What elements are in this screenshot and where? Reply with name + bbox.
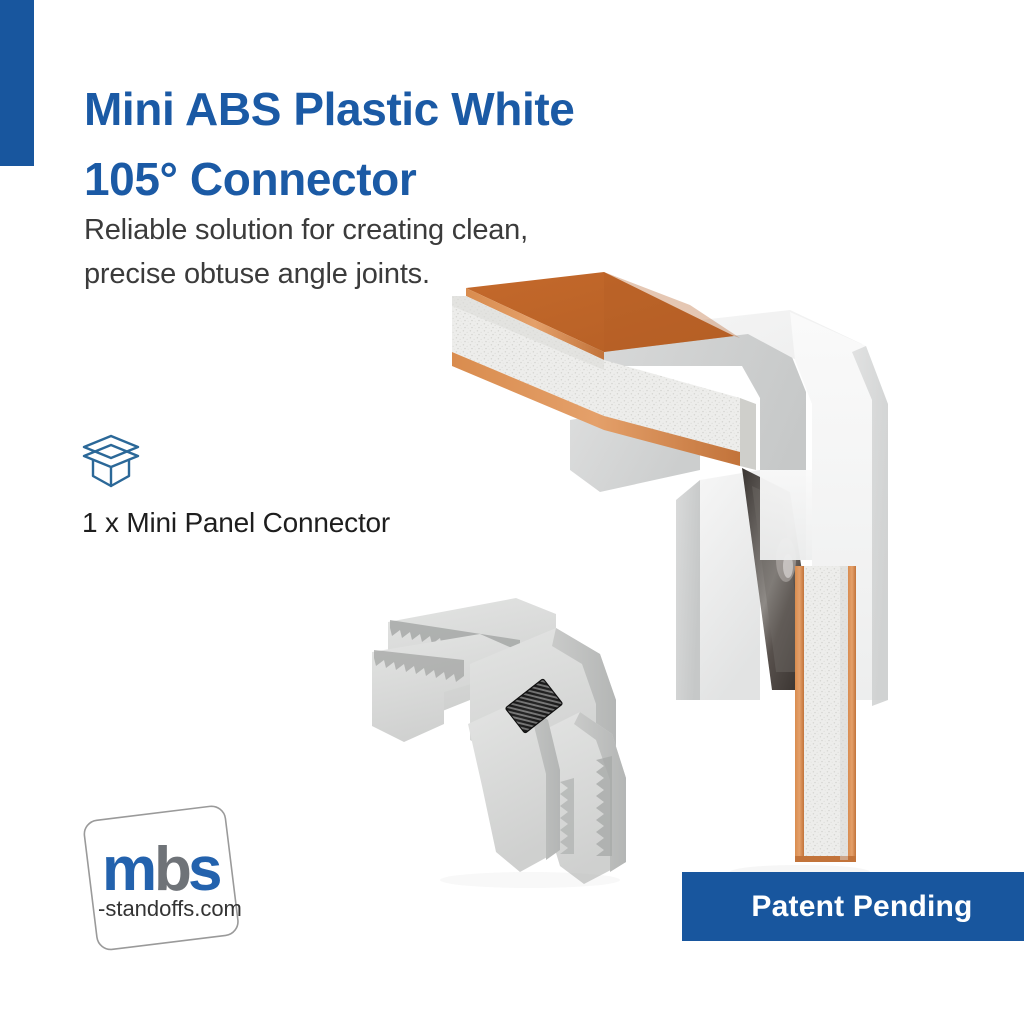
patent-pending-label: Patent Pending <box>700 872 1024 941</box>
page-title: Mini ABS Plastic White 105° Connector <box>84 74 744 214</box>
page-subtitle-line-1: Reliable solution for creating clean, <box>84 208 604 252</box>
brand-logo[interactable]: m b s -standoffs.com <box>78 798 258 958</box>
product-marketing-card: Mini ABS Plastic White 105° Connector Re… <box>0 0 1024 1024</box>
connector-bracket-render <box>372 598 626 888</box>
package-contents-label: 1 x Mini Panel Connector <box>82 505 542 541</box>
left-accent-bar <box>0 0 34 166</box>
angled-panel-joint-render <box>452 272 888 879</box>
open-box-icon <box>82 434 140 488</box>
svg-text:s: s <box>188 835 220 904</box>
page-subtitle-line-2: precise obtuse angle joints. <box>84 252 604 296</box>
logo-wordmark: m b s <box>102 835 220 904</box>
svg-text:b: b <box>154 835 190 904</box>
page-title-line-2: 105° Connector <box>84 144 744 214</box>
page-title-line-1: Mini ABS Plastic White <box>84 74 744 144</box>
svg-text:-standoffs.com: -standoffs.com <box>98 896 242 921</box>
page-subtitle: Reliable solution for creating clean, pr… <box>84 208 604 296</box>
svg-text:m: m <box>102 835 154 904</box>
